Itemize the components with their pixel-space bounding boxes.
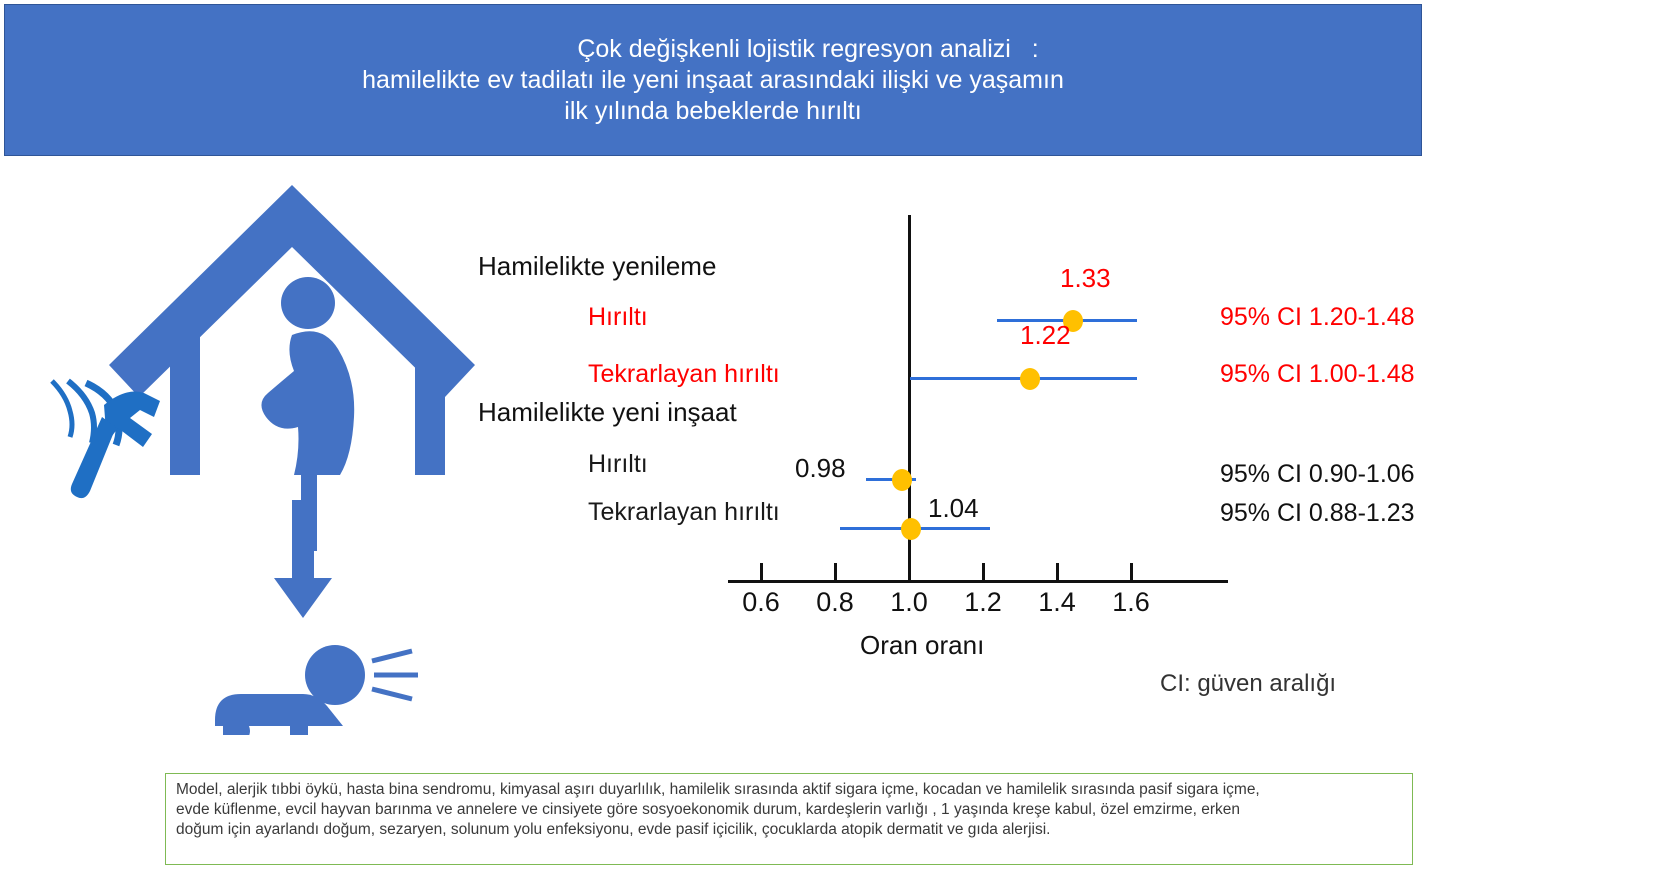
x-tick-5	[1130, 563, 1133, 581]
row-label-0-0: Hırıltı	[588, 303, 648, 332]
or-value-1-1: 1.04	[928, 493, 979, 524]
footnote-line-3: doğum için ayarlandı doğum, sezaryen, so…	[176, 820, 1402, 840]
footnote-line-2: evde küflenme, evcil hayvan barınma ve a…	[176, 800, 1402, 820]
ci-label-0-0: 95% CI 1.20-1.48	[1220, 303, 1415, 332]
forest-plot: Hamilelikte yenileme Hırıltı Tekrarlayan…	[470, 185, 1650, 725]
illustration-svg	[20, 175, 490, 735]
ci-label-0-1: 95% CI 1.00-1.48	[1220, 360, 1415, 389]
group-label-0: Hamilelikte yenileme	[478, 251, 716, 282]
title-line-2: hamilelikte ev tadilatı ile yeni inşaat …	[362, 65, 1064, 96]
x-axis-title: Oran oranı	[860, 630, 984, 661]
x-tick-4	[1056, 563, 1059, 581]
down-arrow-icon	[274, 500, 332, 618]
house-icon	[109, 185, 475, 475]
marker-0-1	[1020, 368, 1040, 390]
crawling-baby-icon	[215, 645, 418, 735]
x-ticklabel-2: 1.0	[890, 587, 928, 618]
marker-1-1	[901, 518, 921, 540]
ci-label-1-1: 95% CI 0.88-1.23	[1220, 499, 1415, 528]
ci-abbreviation-note: CI: güven aralığı	[1160, 670, 1336, 698]
wheeze-lines-icon	[372, 651, 418, 699]
x-tick-2	[908, 563, 911, 581]
or-value-0-1: 1.22	[1020, 320, 1071, 351]
x-ticklabel-0: 0.6	[742, 587, 780, 618]
plot-area: 1.33 1.22 0.98 1.04 0.6 0.8 1.0 1.2 1.4 …	[720, 215, 1240, 615]
x-tick-1	[834, 563, 837, 581]
footnote-line-1: Model, alerjik tıbbi öykü, hasta bina se…	[176, 780, 1402, 800]
x-ticklabel-4: 1.4	[1038, 587, 1076, 618]
row-label-1-0: Hırıltı	[588, 450, 648, 479]
footnote-box: Model, alerjik tıbbi öykü, hasta bina se…	[165, 773, 1413, 865]
x-ticklabel-3: 1.2	[964, 587, 1002, 618]
x-tick-3	[982, 563, 985, 581]
x-ticklabel-5: 1.6	[1112, 587, 1150, 618]
title-banner: Çok değişkenli lojistik regresyon analiz…	[4, 4, 1422, 156]
ci-label-1-0: 95% CI 0.90-1.06	[1220, 460, 1415, 489]
x-tick-0	[760, 563, 763, 581]
or-value-0-0: 1.33	[1060, 263, 1111, 294]
title-line-1: Çok değişkenli lojistik regresyon analiz…	[387, 34, 1038, 65]
x-ticklabel-1: 0.8	[816, 587, 854, 618]
title-line-3: ilk yılında bebeklerde hırıltı	[564, 96, 861, 127]
illustration-graphic	[20, 175, 490, 735]
hammer-icon	[52, 381, 160, 498]
group-label-1: Hamilelikte yeni inşaat	[478, 397, 737, 428]
marker-1-0	[892, 469, 912, 491]
x-axis-line	[728, 580, 1228, 583]
or-value-1-0: 0.98	[795, 453, 846, 484]
